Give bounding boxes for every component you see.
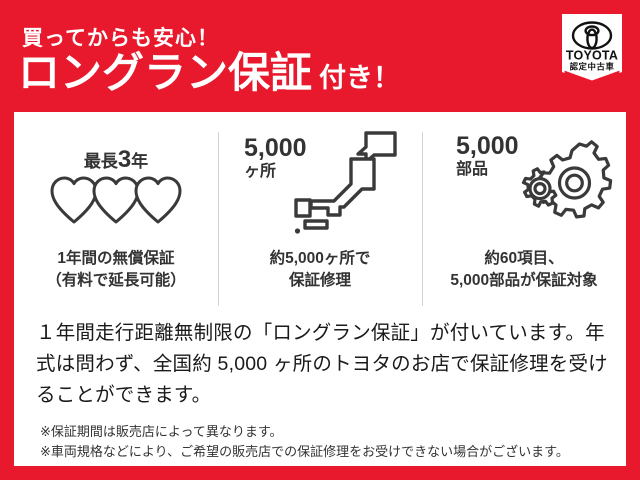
- max-years-prefix: 最長: [84, 152, 118, 171]
- feature-column-parts: 5,000 部品: [422, 126, 626, 312]
- caption-line-1: 約60項目、: [450, 248, 597, 270]
- locations-unit: ヶ所: [244, 164, 276, 180]
- feature-column-locations: 5,000 ヶ所: [218, 126, 422, 312]
- svg-text:認定中古車: 認定中古車: [570, 62, 615, 72]
- parts-unit: 部品: [456, 162, 488, 178]
- gears-icon: [510, 140, 622, 245]
- banner-header: 買ってからも安心！ ロングラン保証 付き！ TOYOTA 認定中古車: [0, 0, 640, 112]
- max-years-label: 最長3年: [14, 146, 218, 174]
- footnote-2: ※車両規格などにより、ご希望の販売店での保証修理をお受けできない場合がございます…: [40, 442, 618, 462]
- header-headline-group: ロングラン保証 付き！: [18, 52, 400, 94]
- japan-map-icon: [294, 130, 404, 243]
- hearts-icon-area: 最長3年: [14, 126, 218, 248]
- toyota-certified-logo: TOYOTA 認定中古車: [562, 14, 622, 90]
- footnotes: ※保証期間は販売店によって異なります。 ※車両規格などにより、ご希望の販売店での…: [40, 422, 618, 461]
- feature-caption-locations: 約5,000ヶ所で 保証修理: [270, 248, 371, 293]
- toyota-logo-icon: TOYOTA 認定中古車: [562, 14, 622, 90]
- feature-caption-parts: 約60項目、 5,000部品が保証対象: [450, 248, 597, 293]
- three-hearts-icon: [49, 174, 183, 231]
- header-headline: ロングラン保証: [18, 52, 312, 94]
- japan-map-icon-area: 5,000 ヶ所: [218, 126, 422, 248]
- caption-line-2: （有料で延長可能）: [46, 270, 186, 292]
- header-tagline: 買ってからも安心！: [22, 22, 219, 52]
- caption-line-1: 1年間の無償保証: [46, 248, 186, 270]
- body-paragraph: １年間走行距離無制限の「ロングラン保証」が付いています。年式は問わず、全国約 5…: [36, 318, 616, 410]
- feature-columns: 最長3年 1年間の無償保証 （有料で延長可能: [14, 126, 626, 312]
- caption-line-1: 約5,000ヶ所で: [270, 248, 371, 270]
- footnote-1: ※保証期間は販売店によって異なります。: [40, 422, 618, 442]
- svg-text:TOYOTA: TOYOTA: [566, 49, 618, 63]
- caption-line-2: 5,000部品が保証対象: [450, 270, 597, 292]
- banner-body-panel: 最長3年 1年間の無償保証 （有料で延長可能: [14, 112, 626, 466]
- feature-caption-warranty-period: 1年間の無償保証 （有料で延長可能）: [46, 248, 186, 293]
- max-years-suffix: 年: [131, 152, 148, 171]
- feature-column-warranty-period: 最長3年 1年間の無償保証 （有料で延長可能: [14, 126, 218, 312]
- gears-icon-area: 5,000 部品: [422, 126, 626, 248]
- caption-line-2: 保証修理: [270, 270, 371, 292]
- header-headline-suffix: 付き！: [319, 65, 400, 92]
- max-years-number: 3: [118, 146, 131, 173]
- longrun-warranty-banner: 買ってからも安心！ ロングラン保証 付き！ TOYOTA 認定中古車: [0, 0, 640, 480]
